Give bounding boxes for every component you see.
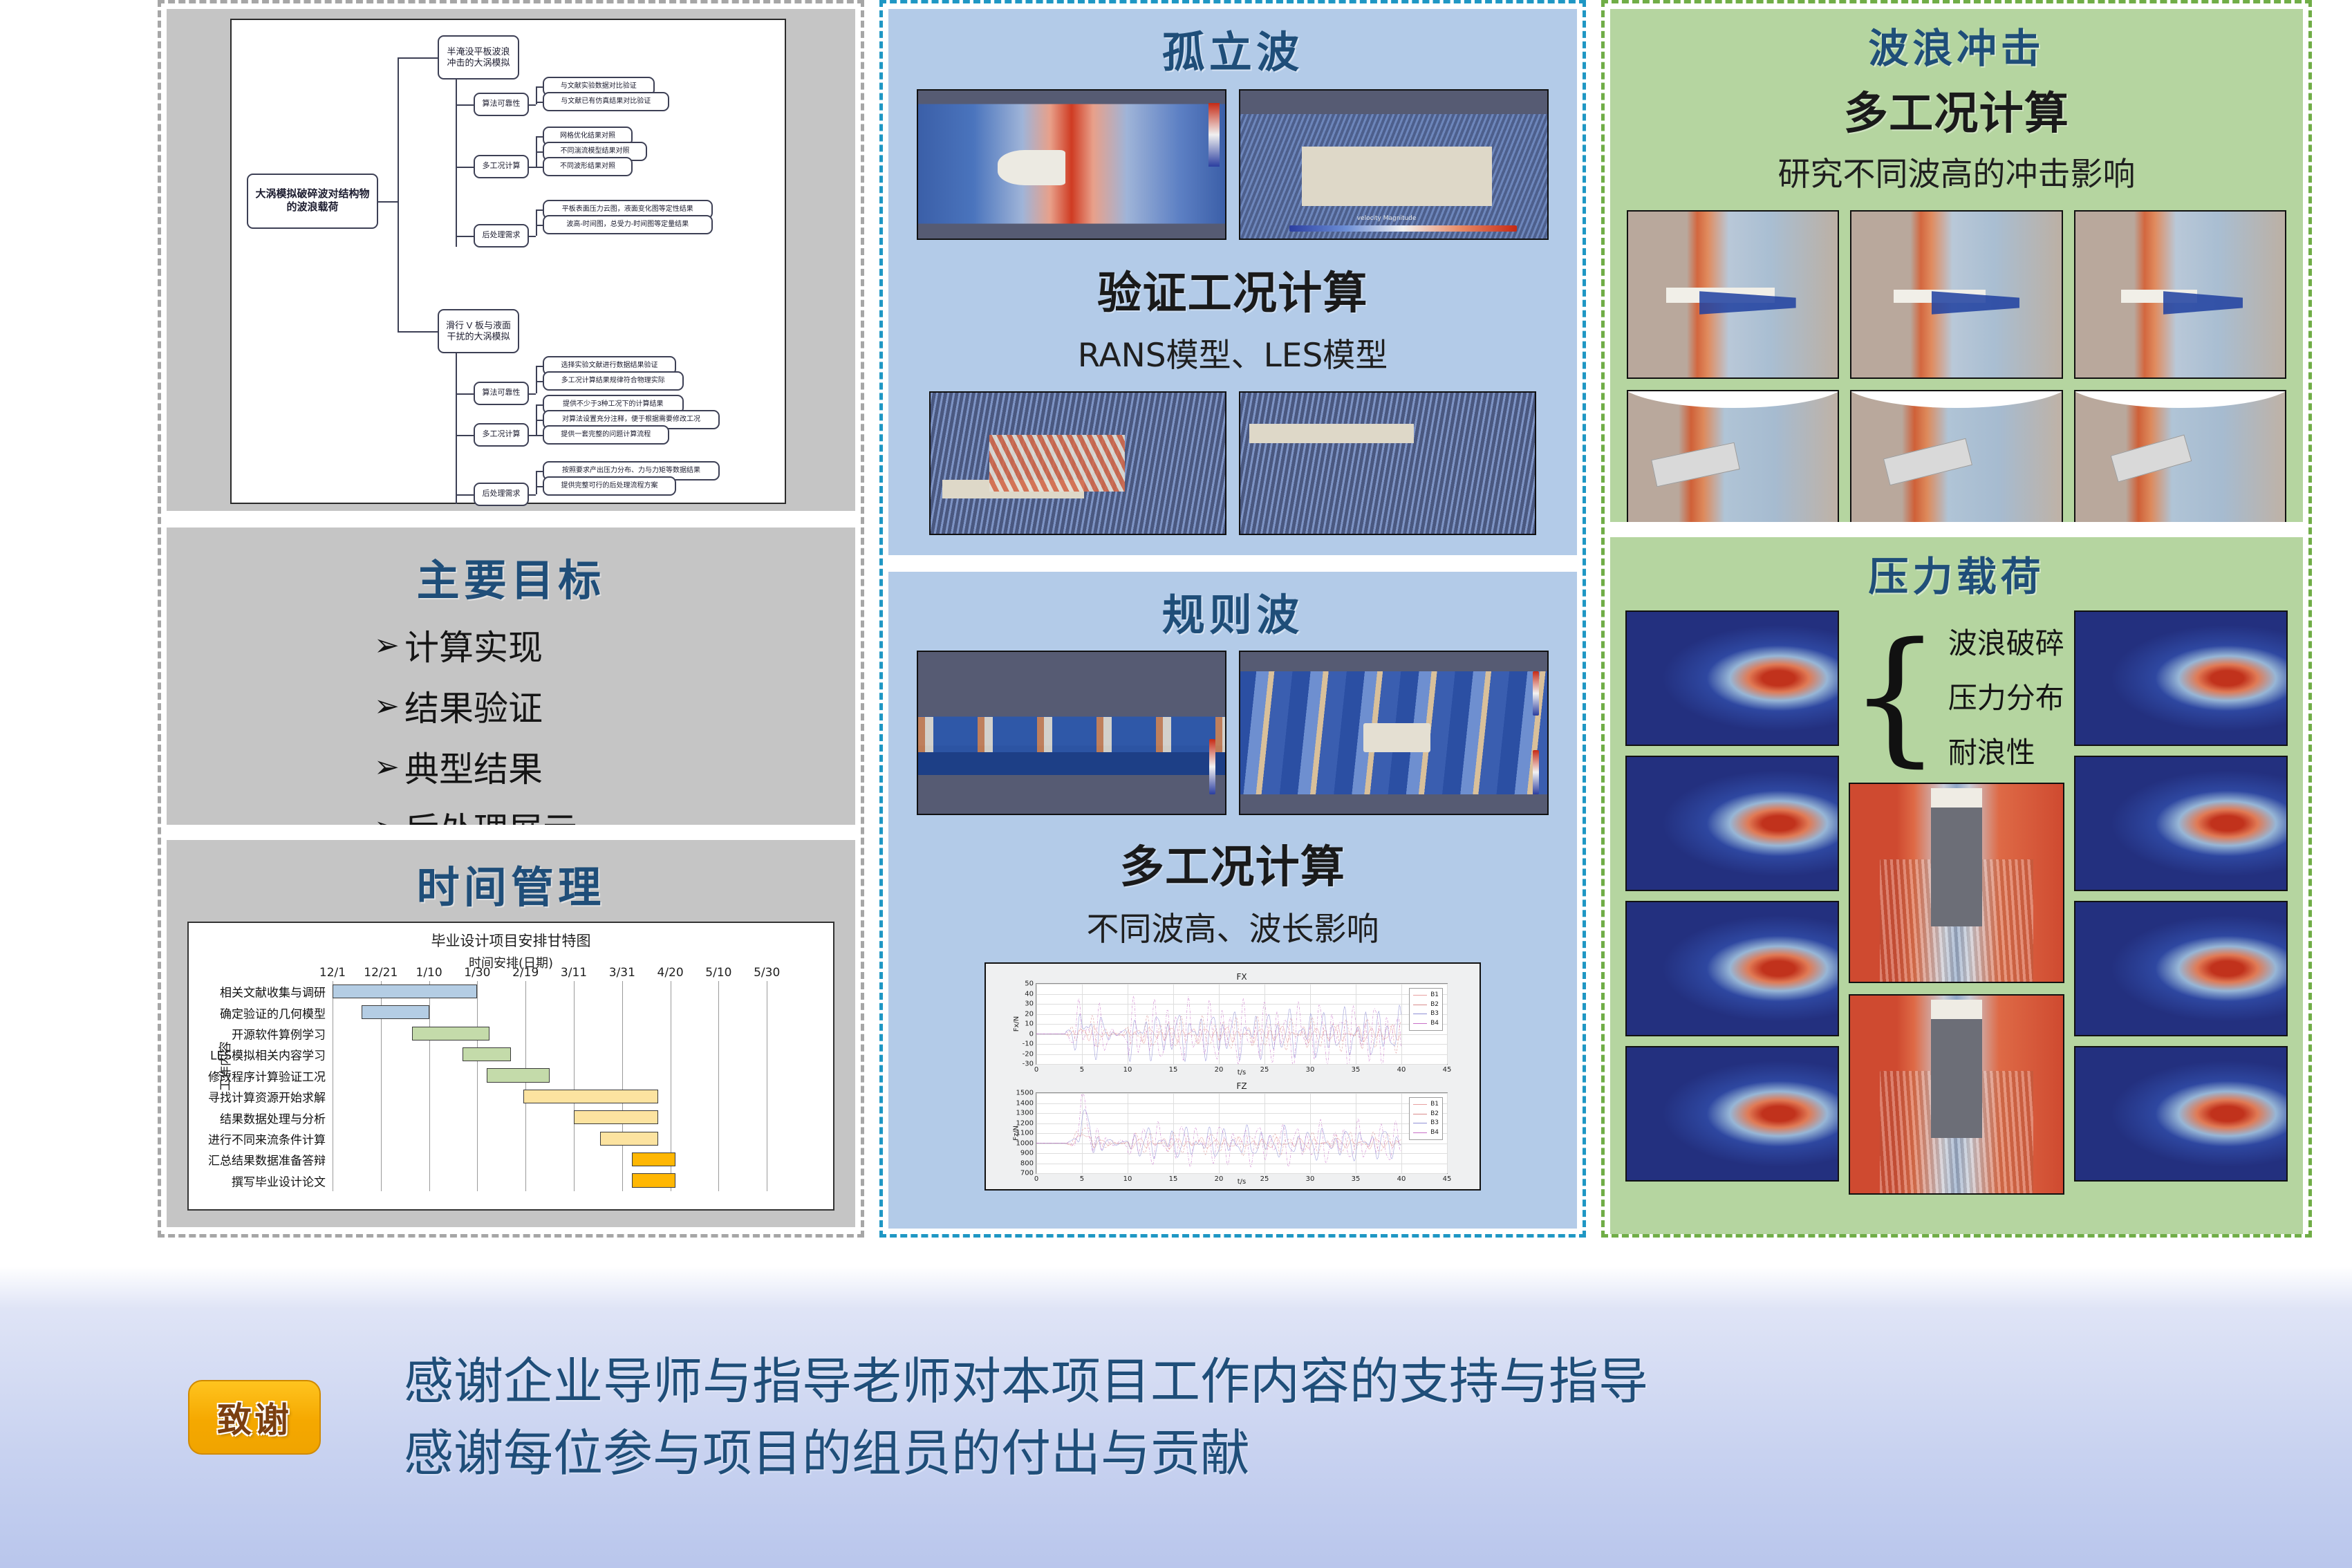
gantt-xtick: 3/11 — [561, 966, 587, 980]
fx-xlabel: t/s — [1036, 1069, 1447, 1076]
plot-ytick: 1300 — [1016, 1110, 1034, 1117]
pressure-load-title: 压力载荷 — [1610, 537, 2303, 602]
gantt-xtick: 12/1 — [319, 966, 346, 980]
time-management-title: 时间管理 — [167, 840, 855, 915]
gantt-chart: 毕业设计项目安排甘特图 时间安排(日期) 工作内容 12/112/211/101… — [187, 922, 834, 1211]
plot-gridline — [1447, 1093, 1448, 1173]
velocity-colorbar-title: velocity Magnitude — [1357, 215, 1417, 222]
plot-ytick: -10 — [1023, 1040, 1034, 1048]
fz-title: FZ — [1036, 1081, 1447, 1091]
impact-grid-row1 — [1610, 210, 2303, 379]
mindmap-connector — [536, 471, 537, 494]
impact-image-2 — [1850, 210, 2062, 379]
plot-xtick: 45 — [1443, 1175, 1452, 1183]
gantt-bar — [487, 1068, 550, 1082]
plot-xtick: 25 — [1260, 1175, 1269, 1183]
legend-swatch — [1413, 1132, 1427, 1133]
gantt-row: 修改程序计算验证工况 — [333, 1065, 815, 1086]
gantt-xticks: 12/112/211/101/302/193/113/314/205/105/3… — [333, 966, 815, 980]
regular-headline: 多工况计算 — [888, 832, 1577, 895]
gantt-bar — [523, 1090, 658, 1103]
mindmap-connector — [456, 236, 474, 237]
plot-xtick: 40 — [1397, 1066, 1406, 1074]
plot-gridline — [1036, 1064, 1447, 1065]
force-time-plot-card: FX Fx/N t/s 051015202530354045-30-20-100… — [984, 962, 1481, 1191]
plot-legend: B1B2B3B4 — [1409, 988, 1443, 1031]
impact-image-1 — [1627, 210, 1839, 379]
plot-gridline — [1036, 1173, 1447, 1174]
mindmap-connector — [529, 167, 536, 168]
fz-subplot: FZ Fz/N t/s 0510152025303540457008009001… — [1036, 1092, 1448, 1174]
mindmap-connector — [536, 366, 537, 393]
gantt-plot-area: 相关文献收集与调研确定验证的几何模型开源软件算例学习LES模拟相关内容学习修改程… — [333, 981, 815, 1191]
gantt-row-label: 修改程序计算验证工况 — [208, 1067, 326, 1084]
mindmap-connector — [536, 209, 537, 236]
mindmap-root-node: 大涡模拟破碎波对结构物的波浪载荷 — [247, 174, 378, 229]
legend-entry: B2 — [1413, 1000, 1439, 1010]
plot-ytick: 1100 — [1016, 1130, 1034, 1137]
goal-item: ➢后处理展示 — [167, 803, 855, 825]
plot-ytick: 800 — [1020, 1159, 1034, 1167]
soliton-title: 孤立波 — [888, 9, 1577, 80]
regular-wave-title: 规则波 — [888, 572, 1577, 642]
plot-traces — [1036, 1093, 1447, 1173]
brace-item: 耐浪性 — [1948, 729, 2064, 772]
left-brace-icon: { — [1849, 656, 1941, 736]
plot-series-B3 — [1036, 1110, 1401, 1161]
impact-grid-row2 — [1610, 390, 2303, 522]
gantt-bar — [574, 1110, 658, 1124]
fz-xlabel: t/s — [1036, 1178, 1447, 1186]
mindmap-connector — [536, 420, 543, 421]
legend-swatch — [1413, 995, 1427, 996]
pressure-image-right-4 — [2074, 1046, 2288, 1182]
gantt-xtick: 5/30 — [754, 966, 780, 980]
pressure-right-stack — [2074, 610, 2288, 1195]
plot-xtick: 30 — [1306, 1066, 1315, 1074]
legend-swatch — [1413, 1014, 1427, 1014]
plot-series-B4 — [1036, 996, 1401, 1064]
mindmap-diagram: 大涡模拟破碎波对结构物的波浪载荷半淹没平板波浪冲击的大涡模拟算法可靠性与文献实验… — [230, 19, 786, 504]
pressure-image-left-1 — [1625, 610, 1839, 746]
legend-label: B1 — [1430, 991, 1439, 1000]
mindmap-connector — [536, 136, 543, 138]
plot-ytick: 10 — [1025, 1020, 1034, 1028]
gantt-bar — [463, 1047, 511, 1061]
legend-label: B2 — [1430, 1000, 1439, 1010]
mindmap-connector — [536, 102, 543, 103]
gantt-bar — [362, 1005, 429, 1019]
bullet-arrow-icon: ➢ — [374, 689, 404, 724]
brace-group: { 波浪破碎压力分布耐浪性 — [1849, 610, 2064, 772]
pressure-left-stack — [1625, 610, 1839, 1195]
regular-subhead: 不同波高、波长影响 — [888, 902, 1577, 950]
mindmap-connector — [529, 435, 536, 436]
pressure-image-left-3 — [1625, 901, 1839, 1036]
pressure-image-right-2 — [2074, 756, 2288, 891]
plot-xtick: 0 — [1034, 1175, 1038, 1183]
wave-impact-headline: 多工况计算 — [1610, 78, 2303, 142]
plot-xtick: 10 — [1123, 1066, 1132, 1074]
soliton-les-vector-image — [929, 391, 1226, 535]
plot-xtick: 25 — [1260, 1066, 1269, 1074]
gantt-row-label: 汇总结果数据准备答辩 — [208, 1151, 326, 1168]
acknowledgement-line: 感谢企业导师与指导老师对本项目工作内容的支持与指导 — [404, 1345, 1648, 1417]
mindmap-connector — [536, 366, 543, 367]
legend-label: B3 — [1430, 1119, 1439, 1128]
pressure-image-right-3 — [2074, 901, 2288, 1036]
legend-entry: B1 — [1413, 1100, 1439, 1110]
gantt-xtick: 5/10 — [705, 966, 731, 980]
gantt-row: 汇总结果数据准备答辩 — [333, 1149, 815, 1170]
goal-item-label: 典型结果 — [404, 742, 543, 792]
mindmap-connector — [536, 471, 543, 472]
gantt-xtick: 12/21 — [364, 966, 398, 980]
mindmap-group-node: 后处理需求 — [474, 483, 529, 506]
mindmap-connector — [398, 57, 399, 331]
plot-legend: B1B2B3B4 — [1409, 1097, 1443, 1140]
wave-impact-title: 波浪冲击 — [1610, 9, 2303, 74]
plot-xtick: 35 — [1352, 1066, 1361, 1074]
plot-xtick: 40 — [1397, 1175, 1406, 1183]
gantt-bar — [632, 1173, 675, 1187]
mindmap-connector — [529, 236, 536, 237]
plot-ytick: 20 — [1025, 1010, 1034, 1018]
mindmap-connector — [456, 435, 474, 436]
fx-subplot: FX Fx/N t/s 051015202530354045-30-20-100… — [1036, 983, 1448, 1065]
plot-series-B1 — [1036, 1025, 1401, 1043]
goal-item-label: 结果验证 — [404, 681, 543, 731]
legend-swatch — [1413, 1104, 1427, 1105]
gantt-row-label: 进行不同来流条件计算 — [208, 1130, 326, 1147]
plot-xtick: 35 — [1352, 1175, 1361, 1183]
impact-tilted-image-1 — [1627, 390, 1839, 522]
pressure-front-image-1 — [1849, 783, 2064, 983]
impact-tilted-image-2 — [1850, 390, 2062, 522]
legend-entry: B3 — [1413, 1119, 1439, 1128]
goals-list: ➢计算实现➢结果验证➢典型结果➢后处理展示 — [167, 620, 855, 825]
mindmap-connector — [536, 404, 543, 406]
impact-tilted-image-3 — [2074, 390, 2286, 522]
pressure-middle-stack: { 波浪破碎压力分布耐浪性 — [1849, 610, 2064, 1195]
goals-panel: 主要目标 ➢计算实现➢结果验证➢典型结果➢后处理展示 — [167, 528, 855, 825]
legend-label: B4 — [1430, 1019, 1439, 1029]
goal-item: ➢典型结果 — [167, 742, 855, 792]
impact-image-3 — [2074, 210, 2286, 379]
soliton-rans-vector-image — [1239, 391, 1536, 535]
legend-label: B4 — [1430, 1128, 1439, 1138]
legend-label: B2 — [1430, 1110, 1439, 1119]
acknowledgement-badge: 致谢 — [188, 1380, 321, 1455]
plot-ytick: 1000 — [1016, 1139, 1034, 1147]
soliton-vector-image: velocity Magnitude — [1239, 89, 1549, 240]
mindmap-connector — [536, 151, 543, 153]
mindmap-panel: 大涡模拟破碎波对结构物的波浪载荷半淹没平板波浪冲击的大涡模拟算法可靠性与文献实验… — [167, 9, 855, 511]
mindmap-connector — [536, 86, 543, 88]
regular-colorbar-top — [1533, 671, 1539, 716]
gantt-row: 撰写毕业设计论文 — [333, 1170, 815, 1191]
gantt-row-label: 撰写毕业设计论文 — [232, 1172, 326, 1189]
mindmap-connector — [398, 331, 438, 333]
gantt-xtick: 1/30 — [464, 966, 490, 980]
mindmap-group-node: 多工况计算 — [474, 423, 529, 447]
soliton-panel: 孤立波 velocity Magnitude 验证工况计算 RANS模型、LES… — [888, 9, 1577, 555]
plot-series-B4 — [1036, 1094, 1401, 1167]
fx-title: FX — [1036, 972, 1447, 982]
plot-ytick: 900 — [1020, 1150, 1034, 1157]
gantt-bar — [412, 1027, 489, 1040]
gantt-row: 结果数据处理与分析 — [333, 1107, 815, 1128]
mindmap-branch-node: 半淹没平板波浪冲击的大涡模拟 — [438, 35, 519, 80]
plot-gridline — [1447, 984, 1448, 1064]
mindmap-connector — [536, 167, 543, 168]
pressure-image-left-2 — [1625, 756, 1839, 891]
gantt-bar — [600, 1132, 658, 1146]
bullet-arrow-icon: ➢ — [374, 810, 404, 825]
gantt-row: 确定验证的几何模型 — [333, 1002, 815, 1023]
legend-entry: B2 — [1413, 1110, 1439, 1119]
plot-ytick: 700 — [1020, 1170, 1034, 1177]
poster-root: 大涡模拟破碎波对结构物的波浪载荷半淹没平板波浪冲击的大涡模拟算法可靠性与文献实验… — [0, 0, 2352, 1568]
mindmap-branch-node: 滑行 V 板与液面干扰的大涡模拟 — [438, 309, 519, 353]
plot-xtick: 15 — [1169, 1066, 1178, 1074]
goal-item: ➢结果验证 — [167, 681, 855, 731]
brace-item: 波浪破碎 — [1948, 620, 2064, 662]
mindmap-leaf-node: 波高-时间图，总受力-时间图等定量结果 — [543, 215, 713, 234]
regular-wave-profile-image — [917, 651, 1226, 815]
soliton-headline: 验证工况计算 — [888, 258, 1577, 321]
plot-xtick: 30 — [1306, 1175, 1315, 1183]
plot-xtick: 0 — [1034, 1066, 1038, 1074]
soliton-contour-image — [917, 89, 1226, 240]
mindmap-group-node: 后处理需求 — [474, 224, 529, 248]
mindmap-connector — [529, 494, 536, 496]
mindmap-connector — [456, 353, 457, 504]
gantt-row: 开源软件算例学习 — [333, 1023, 815, 1044]
gantt-bar — [333, 984, 477, 998]
mindmap-leaf-node: 不同波形结果对照 — [543, 157, 633, 176]
gantt-row: 相关文献收集与调研 — [333, 981, 815, 1002]
acknowledgement-footer: 致谢 感谢企业导师与指导老师对本项目工作内容的支持与指导感谢每位参与项目的组员的… — [0, 1267, 2352, 1568]
gantt-xtick: 4/20 — [657, 966, 684, 980]
plot-xtick: 20 — [1215, 1066, 1224, 1074]
plot-ytick: 1200 — [1016, 1119, 1034, 1127]
gantt-xtick: 2/19 — [512, 966, 539, 980]
mindmap-group-node: 算法可靠性 — [474, 382, 529, 405]
soliton-image-row-top: velocity Magnitude — [888, 89, 1577, 240]
legend-label: B1 — [1430, 1100, 1439, 1110]
plot-xtick: 45 — [1443, 1066, 1452, 1074]
plot-xtick: 10 — [1123, 1175, 1132, 1183]
goal-item-label: 计算实现 — [404, 620, 543, 670]
goal-item: ➢计算实现 — [167, 620, 855, 670]
legend-entry: B4 — [1413, 1128, 1439, 1138]
legend-swatch — [1413, 1005, 1427, 1005]
plot-xtick: 5 — [1080, 1175, 1084, 1183]
mindmap-leaf-node: 提供一套完整的问题计算流程 — [543, 425, 669, 445]
legend-label: B3 — [1430, 1009, 1439, 1019]
mindmap-group-node: 算法可靠性 — [474, 93, 529, 116]
mindmap-leaf-node: 提供完整可行的后处理流程方案 — [543, 476, 676, 496]
brace-item-list: 波浪破碎压力分布耐浪性 — [1948, 620, 2064, 772]
plot-ytick: -20 — [1023, 1050, 1034, 1058]
gantt-row-label: 寻找计算资源开始求解 — [208, 1088, 326, 1105]
goal-item-label: 后处理展示 — [404, 803, 577, 825]
plot-ytick: 30 — [1025, 1000, 1034, 1008]
regular-image-row — [888, 651, 1577, 815]
plot-ytick: 50 — [1025, 980, 1034, 988]
plot-xtick: 5 — [1080, 1066, 1084, 1074]
soliton-image-row-bottom — [888, 391, 1577, 535]
mindmap-leaf-node: 与文献已有仿真结果对比验证 — [543, 92, 669, 111]
gantt-row-label: 相关文献收集与调研 — [220, 983, 326, 1000]
mindmap-leaf-node: 多工况计算结果规律符合物理实际 — [543, 371, 684, 391]
gantt-row: 寻找计算资源开始求解 — [333, 1086, 815, 1107]
acknowledgement-line: 感谢每位参与项目的组员的付出与贡献 — [404, 1417, 1648, 1489]
gantt-title: 毕业设计项目安排甘特图 — [189, 923, 833, 951]
right-column: 波浪冲击 多工况计算 研究不同波高的冲击影响 — [1601, 0, 2312, 1238]
mindmap-connector — [529, 393, 536, 395]
mindmap-connector — [456, 494, 474, 496]
gantt-xtick: 1/10 — [416, 966, 442, 980]
wave-impact-panel: 波浪冲击 多工况计算 研究不同波高的冲击影响 — [1610, 9, 2303, 522]
pressure-front-image-2 — [1849, 994, 2064, 1195]
mindmap-connector — [378, 201, 398, 203]
mindmap-connector — [536, 225, 543, 226]
gantt-row: LES模拟相关内容学习 — [333, 1044, 815, 1065]
legend-swatch — [1413, 1023, 1427, 1024]
bullet-arrow-icon: ➢ — [374, 749, 404, 785]
gantt-row-label: LES模拟相关内容学习 — [210, 1046, 326, 1063]
gantt-row-label: 确定验证的几何模型 — [220, 1004, 326, 1021]
legend-swatch — [1413, 1114, 1427, 1114]
wave-impact-subhead: 研究不同波高的冲击影响 — [1610, 147, 2303, 195]
legend-swatch — [1413, 1123, 1427, 1123]
pressure-image-left-4 — [1625, 1046, 1839, 1182]
velocity-colorbar — [1289, 225, 1517, 232]
plot-ytick: 0 — [1029, 1030, 1034, 1038]
fx-ylabel: Fx/N — [1013, 1016, 1020, 1032]
mindmap-connector — [536, 486, 543, 487]
regular-colorbar-bottom — [1533, 750, 1539, 794]
mindmap-connector — [456, 393, 474, 395]
plot-xtick: 15 — [1169, 1175, 1178, 1183]
left-column: 大涡模拟破碎波对结构物的波浪载荷半淹没平板波浪冲击的大涡模拟算法可靠性与文献实验… — [158, 0, 864, 1238]
mindmap-connector — [456, 104, 474, 106]
gantt-bar — [632, 1152, 675, 1166]
regular-wave-panel: 规则波 多工况计算 不同波高、波长影响 FX Fx/N — [888, 572, 1577, 1229]
mindmap-connector — [536, 381, 543, 382]
gantt-row-label: 结果数据处理与分析 — [220, 1109, 326, 1126]
pressure-image-right-1 — [2074, 610, 2288, 746]
brace-item: 压力分布 — [1948, 675, 2064, 717]
acknowledgement-badge-label: 致谢 — [217, 1392, 292, 1442]
legend-entry: B3 — [1413, 1009, 1439, 1019]
time-management-panel: 时间管理 毕业设计项目安排甘特图 时间安排(日期) 工作内容 12/112/21… — [167, 840, 855, 1227]
mindmap-connector — [529, 104, 536, 106]
plot-ytick: 1400 — [1016, 1099, 1034, 1107]
pressure-load-panel: 压力载荷 { 波浪破碎压力分布耐浪性 — [1610, 537, 2303, 1234]
mindmap-connector — [398, 57, 438, 59]
bullet-arrow-icon: ➢ — [374, 628, 404, 663]
mindmap-connector — [456, 167, 474, 168]
regular-wave-topview-image — [1239, 651, 1549, 815]
goals-title: 主要目标 — [167, 528, 855, 608]
mindmap-connector — [536, 209, 543, 211]
acknowledgement-text: 感谢企业导师与指导老师对本项目工作内容的支持与指导感谢每位参与项目的组员的付出与… — [404, 1345, 1648, 1490]
legend-entry: B4 — [1413, 1019, 1439, 1029]
legend-entry: B1 — [1413, 991, 1439, 1000]
plot-ytick: 40 — [1025, 990, 1034, 998]
soliton-colorbar — [1208, 103, 1220, 167]
pressure-grid: { 波浪破碎压力分布耐浪性 — [1610, 610, 2303, 1195]
plot-xtick: 20 — [1215, 1175, 1224, 1183]
gantt-row: 进行不同来流条件计算 — [333, 1128, 815, 1149]
mindmap-connector — [536, 435, 543, 436]
plot-traces — [1036, 984, 1447, 1064]
soliton-subhead: RANS模型、LES模型 — [888, 328, 1577, 376]
mindmap-group-node: 多工况计算 — [474, 155, 529, 178]
middle-column: 孤立波 velocity Magnitude 验证工况计算 RANS模型、LES… — [879, 0, 1586, 1238]
plot-ytick: 1500 — [1016, 1090, 1034, 1097]
regular-colorbar-left — [1209, 739, 1215, 794]
plot-ytick: -30 — [1023, 1061, 1034, 1068]
gantt-row-label: 开源软件算例学习 — [232, 1025, 326, 1042]
gantt-xtick: 3/31 — [609, 966, 635, 980]
